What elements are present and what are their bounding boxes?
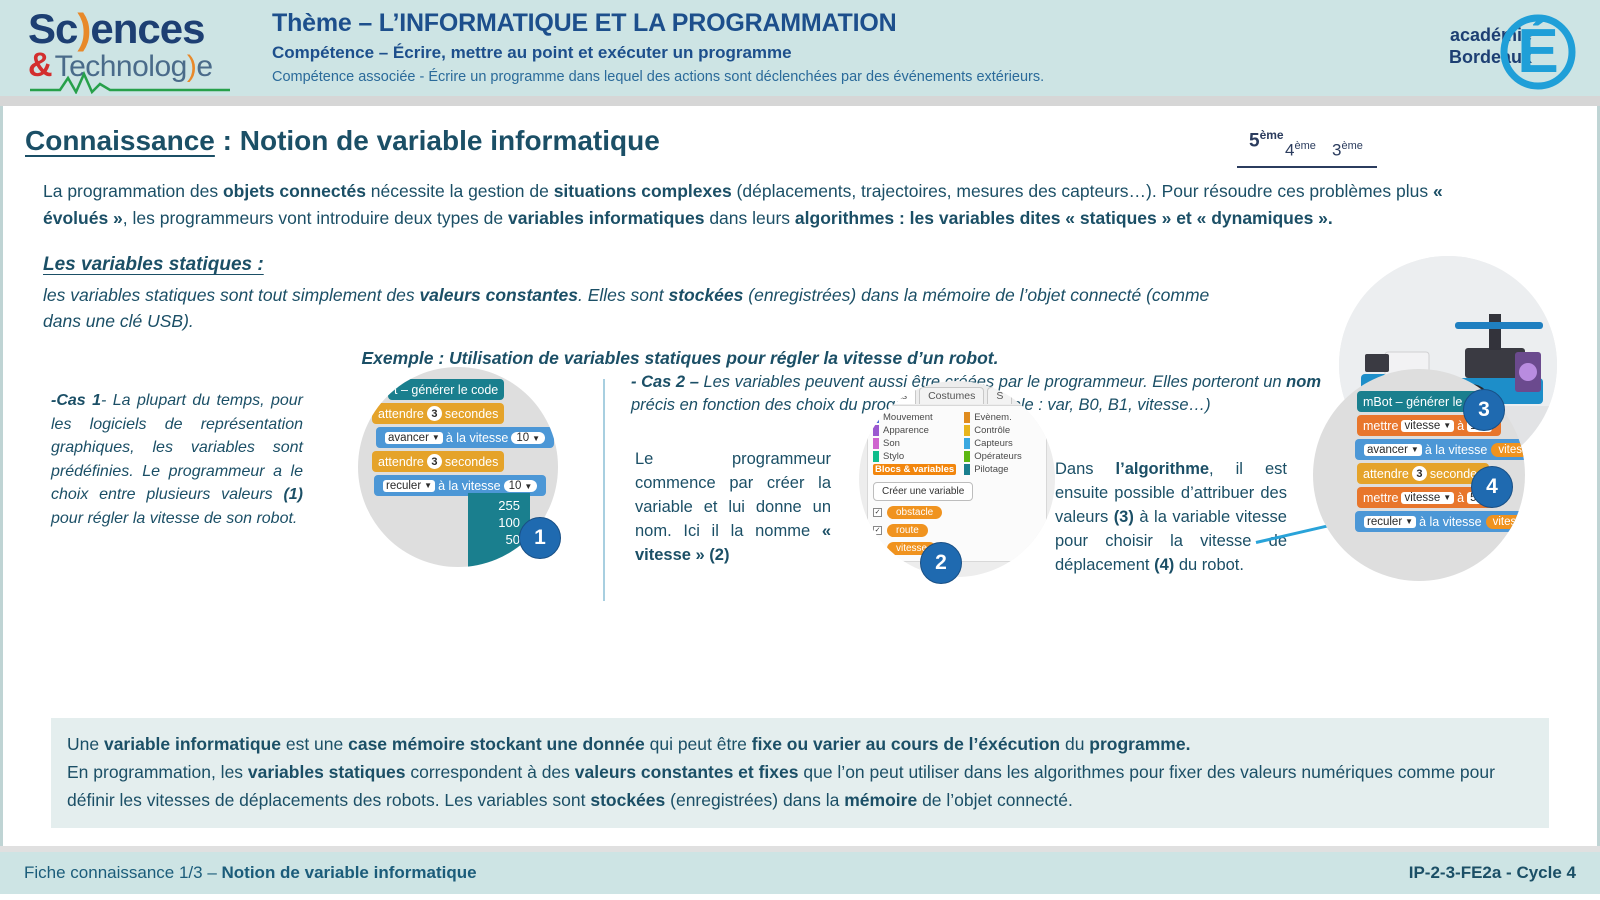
- mid-column-text: Le programmeur commence par créer la var…: [635, 447, 831, 567]
- checkbox-route[interactable]: ✓: [873, 526, 882, 535]
- block-attendre-3: attendre 3 secondes: [1357, 463, 1489, 484]
- badge-1: 1: [519, 517, 561, 559]
- checkbox-obstacle[interactable]: ✓: [873, 508, 882, 517]
- sciences-technologie-logo: Sc)ences & Technolog)e: [0, 0, 250, 96]
- logo-iences: ences: [90, 5, 204, 52]
- badge-3: 3: [1463, 389, 1505, 431]
- checkbox-vitesse[interactable]: ✓: [873, 544, 882, 553]
- page-title-rest: : Notion de variable informatique: [215, 125, 660, 156]
- block-avancer-vitesse: avancer▼ à la vitesse vitesse: [1355, 439, 1525, 460]
- block-wait-1: attendre 3 secondes: [372, 403, 504, 424]
- palette-item-apparence[interactable]: Apparence: [873, 425, 956, 436]
- dropdown-option-0[interactable]: 0: [468, 548, 530, 565]
- page-title-label: Connaissance: [25, 125, 215, 156]
- logo-sc: Sc: [28, 5, 77, 52]
- palette-item-capteurs[interactable]: Capteurs: [964, 438, 1022, 449]
- palette-item-controle[interactable]: Contrôle: [964, 425, 1022, 436]
- palette-item-evenements[interactable]: Evènem.: [964, 412, 1022, 423]
- variable-row-obstacle[interactable]: ✓ obstacle: [873, 506, 1041, 519]
- variable-row-route[interactable]: ✓ route: [873, 524, 1041, 537]
- grade-3: 3ème: [1332, 140, 1363, 161]
- page-header: Sc)ences & Technolog)e Thème – L’INFORMA…: [0, 0, 1600, 96]
- palette-item-operateurs[interactable]: Opérateurs: [964, 451, 1022, 462]
- dropdown-option-minus50[interactable]: -50: [468, 565, 530, 567]
- palette-body: Mouvement Apparence Son Stylo Blocs & va…: [867, 405, 1047, 562]
- page-footer: Fiche connaissance 1/3 – Notion de varia…: [0, 852, 1600, 894]
- palette-tabs[interactable]: cripts Costumes S: [873, 387, 1012, 404]
- academie-bordeaux-logo: académie Bordeaux É: [1410, 0, 1600, 96]
- page-body: Connaissance : Notion de variable inform…: [0, 106, 1600, 846]
- competence-associee: Compétence associée - Écrire un programm…: [272, 68, 1410, 86]
- right-column-text: Dans l’algorithme, il est ensuite possib…: [1055, 457, 1287, 577]
- page-title: Connaissance : Notion de variable inform…: [25, 124, 660, 158]
- cas1-text: -Cas 1- La plupart du temps, pour les lo…: [51, 389, 303, 530]
- footer-right: IP-2-3-FE2a - Cycle 4: [1409, 863, 1576, 883]
- footer-left: Fiche connaissance 1/3 – Notion de varia…: [24, 863, 477, 883]
- palette-item-son[interactable]: Son: [873, 438, 956, 449]
- cases-row: -Cas 1- La plupart du temps, pour les lo…: [3, 379, 1597, 629]
- section-heading-variables-statiques: Les variables statiques :: [43, 254, 1597, 276]
- vertical-divider: [603, 379, 605, 601]
- dropdown-option-255[interactable]: 255: [468, 497, 530, 514]
- logo-sciences-text: Sc)ences: [28, 6, 250, 52]
- grade-5: 5ème: [1249, 128, 1284, 152]
- grade-4: 4ème: [1285, 140, 1316, 161]
- palette-col-left: Mouvement Apparence Son Stylo Blocs & va…: [873, 412, 956, 475]
- competence-title: Compétence – Écrire, mettre au point et …: [272, 42, 1410, 63]
- title-row: Connaissance : Notion de variable inform…: [3, 106, 1597, 168]
- summary-line-1: Une variable informatique est une case m…: [67, 730, 1533, 758]
- summary-box: Une variable informatique est une case m…: [51, 718, 1549, 828]
- academie-e-icon: É: [1488, 2, 1580, 94]
- header-divider-strip: [0, 96, 1600, 106]
- screenshot-scratch-palette: cripts Costumes S Mouvement Apparence So…: [859, 381, 1055, 577]
- summary-line-2: En programmation, les variables statique…: [67, 758, 1533, 814]
- tab-sons[interactable]: S: [987, 387, 1012, 404]
- academie-e-letter: É: [1517, 17, 1558, 86]
- palette-item-blocs-variables[interactable]: Blocs & variables: [873, 464, 956, 475]
- palette-col-right: Evènem. Contrôle Capteurs Opérateurs Pil…: [964, 412, 1022, 475]
- intro-paragraph: La programmation des objets connectés né…: [3, 168, 1597, 232]
- tab-costumes[interactable]: Costumes: [919, 387, 984, 404]
- grade-levels: 5ème 4ème 3ème: [1237, 128, 1377, 168]
- theme-title: Thème – L’INFORMATIQUE ET LA PROGRAMMATI…: [272, 8, 1410, 38]
- badge-4: 4: [1471, 466, 1513, 508]
- palette-item-stylo[interactable]: Stylo: [873, 451, 956, 462]
- block-move-forward: avancer▼ à la vitesse 10▼: [376, 427, 554, 448]
- block-reculer-vitesse: reculer▼ à la vitesse vitesse: [1355, 511, 1525, 532]
- palette-item-pilotage[interactable]: Pilotage: [964, 464, 1022, 475]
- palette-item-mouvement[interactable]: Mouvement: [873, 412, 956, 423]
- ecg-wave-icon: [30, 70, 230, 94]
- create-variable-button[interactable]: Créer une variable: [873, 482, 973, 501]
- header-titles: Thème – L’INFORMATIQUE ET LA PROGRAMMATI…: [250, 0, 1410, 96]
- section-body-variables-statiques: les variables statiques sont tout simple…: [43, 282, 1243, 334]
- tab-scripts[interactable]: cripts: [873, 387, 916, 404]
- badge-2: 2: [920, 542, 962, 584]
- block-generate-code: t – générer le code: [388, 379, 504, 400]
- block-wait-2: attendre 3 secondes: [372, 451, 504, 472]
